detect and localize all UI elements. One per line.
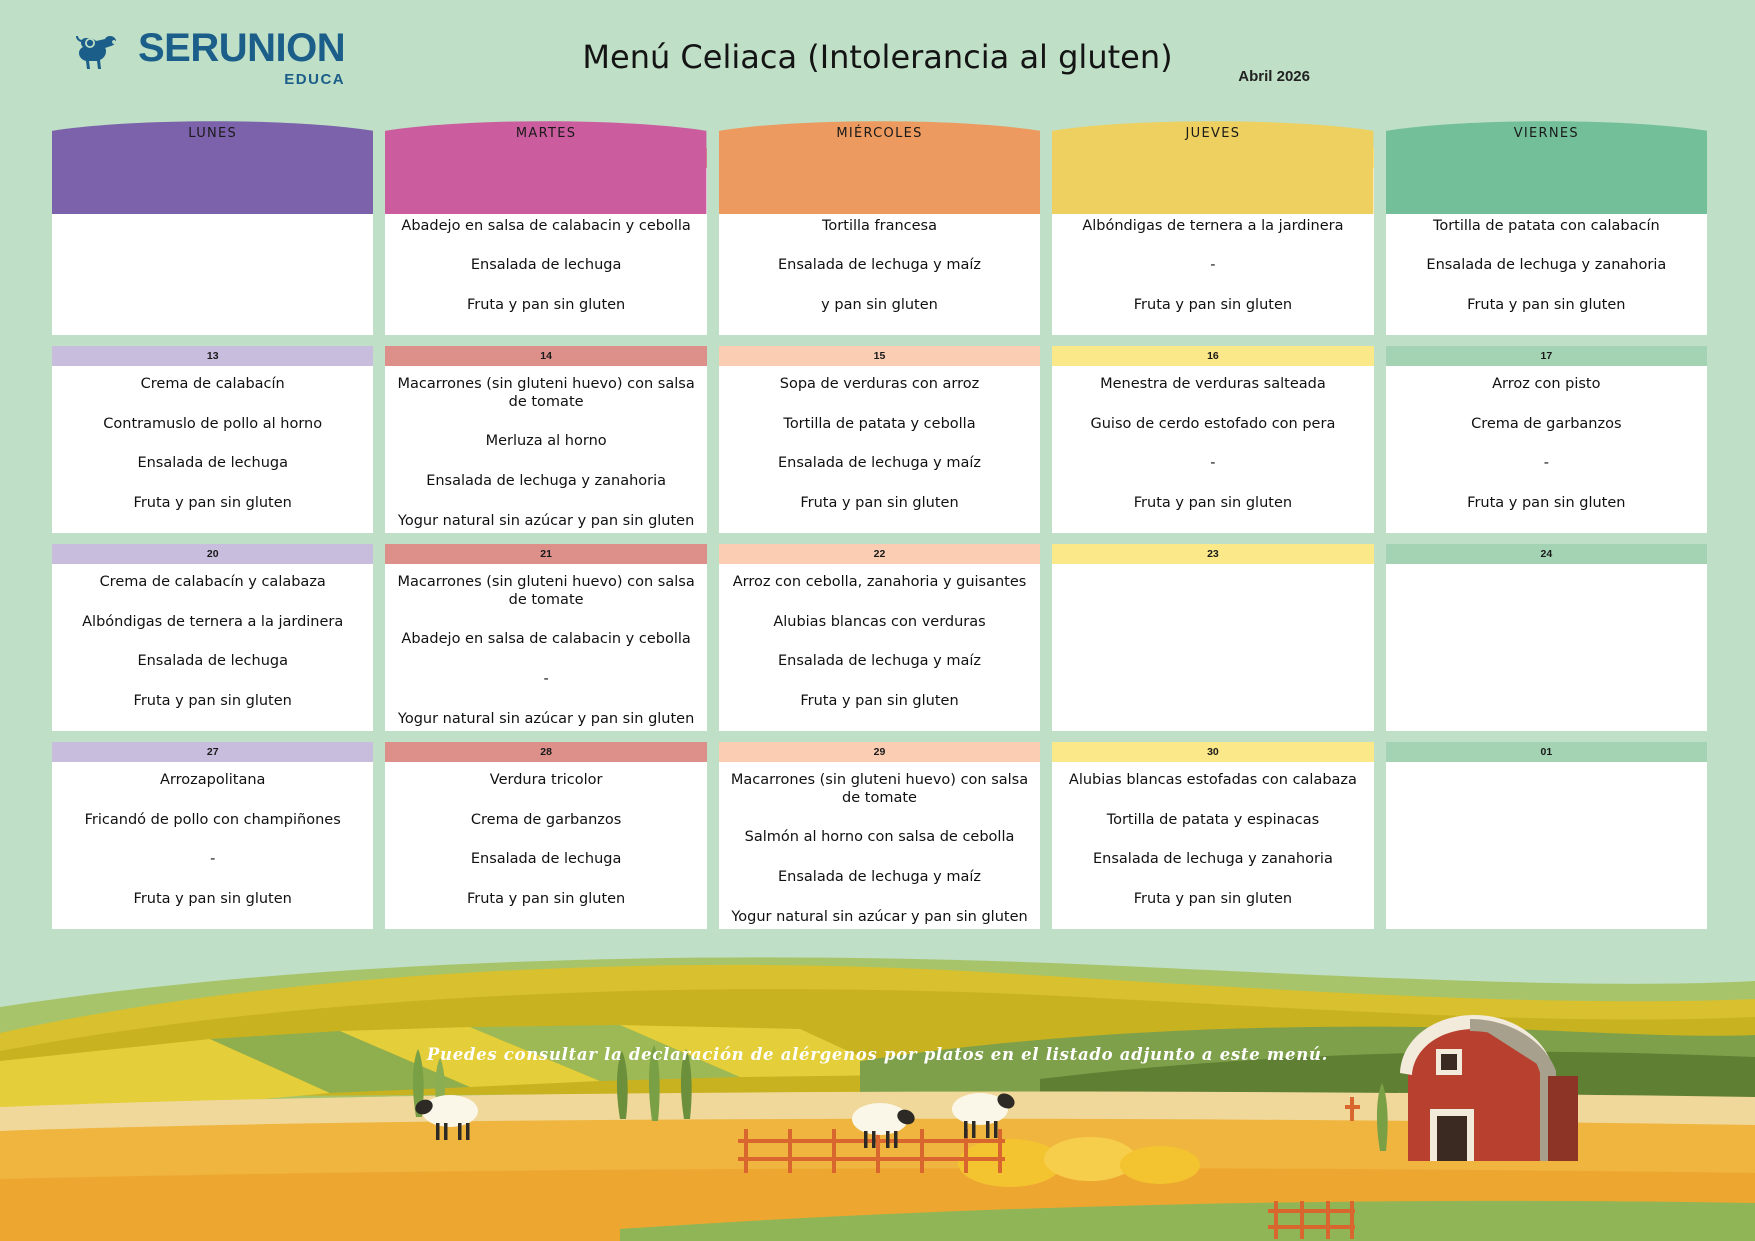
dish-line: Arrozapolitana — [60, 772, 365, 790]
date-bar: 22 — [719, 544, 1040, 564]
date-bar: 24 — [1386, 544, 1707, 564]
column-header-viernes: VIERNES — [1386, 118, 1707, 148]
column-header-lunes: LUNES — [52, 118, 373, 148]
menu-cell[interactable]: Crema de calabacínContramuslo de pollo a… — [52, 366, 373, 533]
menu-cell[interactable]: Arroz con pistoCrema de garbanzos-Fruta … — [1386, 366, 1707, 533]
dish-line: Salmón al horno con salsa de cebolla — [727, 829, 1032, 847]
dish-line: Crema de calabacín — [60, 376, 365, 394]
dish-line: Merluza al horno — [393, 433, 698, 451]
menu-cell[interactable]: Alubias blancas estofadas con calabazaTo… — [1052, 762, 1373, 929]
column-header-label: VIERNES — [1514, 126, 1579, 141]
dish-line: Yogur natural sin azúcar y pan sin glute… — [393, 513, 698, 531]
day-block[interactable]: 29Macarrones (sin gluteni huevo) con sal… — [719, 742, 1040, 929]
dish-line: Ensalada de lechuga y maíz — [727, 257, 1032, 275]
dish-line: Fricandó de pollo con champiñones — [60, 812, 365, 830]
dish-line: Fruta y pan sin gluten — [727, 495, 1032, 513]
dish-line: - — [60, 851, 365, 869]
day-block[interactable]: 14Macarrones (sin gluteni huevo) con sal… — [385, 346, 706, 533]
dish-line: Sopa de verduras con arroz — [727, 376, 1032, 394]
day-block[interactable]: 24 — [1386, 544, 1707, 731]
dish-line: - — [1060, 257, 1365, 275]
column-header-label: JUEVES — [1186, 126, 1241, 141]
date-bar: 29 — [719, 742, 1040, 762]
menu-cell[interactable]: Crema de calabacín y calabazaAlbóndigas … — [52, 564, 373, 731]
column-header-label: MARTES — [516, 126, 576, 141]
column-header-miércoles: MIÉRCOLES — [719, 118, 1040, 148]
dish-line: Fruta y pan sin gluten — [393, 297, 698, 315]
barn-door — [1437, 1116, 1467, 1161]
dish-line: Ensalada de lechuga y zanahoria — [393, 473, 698, 491]
dish-line: - — [393, 671, 698, 689]
dish-line: Fruta y pan sin gluten — [1060, 297, 1365, 315]
dish-line: y pan sin gluten — [727, 297, 1032, 315]
menu-poster: SERUNION EDUCA Menú Celiaca (Intoleranci… — [0, 0, 1755, 1241]
dish-line: Albóndigas de ternera a la jardinera — [1060, 218, 1365, 236]
menu-cell[interactable]: Macarrones (sin gluteni huevo) con salsa… — [385, 366, 706, 533]
menu-cell[interactable]: Arroz con cebolla, zanahoria y guisantes… — [719, 564, 1040, 731]
date-bar: 30 — [1052, 742, 1373, 762]
day-block[interactable]: 01 — [1386, 742, 1707, 929]
dish-line: Fruta y pan sin gluten — [60, 693, 365, 711]
dish-line: Fruta y pan sin gluten — [1394, 297, 1699, 315]
date-bar: 23 — [1052, 544, 1373, 564]
menu-calendar: LUNES06 13Crema de calabacínContramuslo … — [52, 118, 1707, 929]
dish-line: Tortilla de patata con calabacín — [1394, 218, 1699, 236]
dish-line: Arroz con pisto — [1394, 376, 1699, 394]
dish-line: Alubias blancas estofadas con calabaza — [1060, 772, 1365, 790]
dish-line: Albóndigas de ternera a la jardinera — [60, 614, 365, 632]
day-column-miércoles: MIÉRCOLES08Alubias blancas con verdurasT… — [719, 118, 1040, 929]
page-title: Menú Celiaca (Intolerancia al gluten) — [0, 38, 1755, 76]
dish-line: - — [1394, 455, 1699, 473]
dish-line: Crema de calabacín y calabaza — [60, 574, 365, 592]
dish-line: Ensalada de lechuga y zanahoria — [1060, 851, 1365, 869]
dish-line: Crema de garbanzos — [1394, 416, 1699, 434]
column-header-jueves: JUEVES — [1052, 118, 1373, 148]
menu-cell[interactable]: Macarrones (sin gluteni huevo) con salsa… — [385, 564, 706, 731]
dish-line: Tortilla de patata y cebolla — [727, 416, 1032, 434]
dish-line: Fruta y pan sin gluten — [60, 891, 365, 909]
menu-cell[interactable]: Sopa de verduras con arrozTortilla de pa… — [719, 366, 1040, 533]
dish-line: Ensalada de lechuga — [60, 653, 365, 671]
dish-line: Crema de garbanzos — [393, 812, 698, 830]
day-block[interactable]: 28Verdura tricolorCrema de garbanzosEnsa… — [385, 742, 706, 929]
day-column-lunes: LUNES06 13Crema de calabacínContramuslo … — [52, 118, 373, 929]
date-bar: 28 — [385, 742, 706, 762]
month-label: Abril 2026 — [1238, 68, 1310, 85]
date-bar: 15 — [719, 346, 1040, 366]
dish-line: Fruta y pan sin gluten — [1060, 495, 1365, 513]
menu-cell[interactable]: Macarrones (sin gluteni huevo) con salsa… — [719, 762, 1040, 929]
column-header-label: MIÉRCOLES — [836, 126, 922, 141]
dish-line: Tortilla de patata y espinacas — [1060, 812, 1365, 830]
column-header-martes: MARTES — [385, 118, 706, 148]
dish-line: Abadejo en salsa de calabacin y cebolla — [393, 631, 698, 649]
date-bar: 16 — [1052, 346, 1373, 366]
dish-line: Fruta y pan sin gluten — [727, 693, 1032, 711]
day-block[interactable]: 16Menestra de verduras salteadaGuiso de … — [1052, 346, 1373, 533]
day-block[interactable]: 27ArrozapolitanaFricandó de pollo con ch… — [52, 742, 373, 929]
date-bar: 14 — [385, 346, 706, 366]
menu-cell[interactable]: Verdura tricolorCrema de garbanzosEnsala… — [385, 762, 706, 929]
day-block[interactable]: 17Arroz con pistoCrema de garbanzos-Frut… — [1386, 346, 1707, 533]
day-column-viernes: VIERNES10Sopa de verduras con arrozTorti… — [1386, 118, 1707, 929]
date-bar: 21 — [385, 544, 706, 564]
menu-cell[interactable] — [1386, 762, 1707, 929]
dish-line: Verdura tricolor — [393, 772, 698, 790]
dish-line: Arroz con cebolla, zanahoria y guisantes — [727, 574, 1032, 592]
dish-line: Yogur natural sin azúcar y pan sin glute… — [393, 711, 698, 729]
dish-line: Macarrones (sin gluteni huevo) con salsa… — [393, 376, 698, 411]
menu-cell[interactable] — [1052, 564, 1373, 731]
day-block[interactable]: 20Crema de calabacín y calabazaAlbóndiga… — [52, 544, 373, 731]
dish-line: Ensalada de lechuga y zanahoria — [1394, 257, 1699, 275]
date-bar: 13 — [52, 346, 373, 366]
day-column-martes: MARTES07Arroz a la hortelana / arroz con… — [385, 118, 706, 929]
dish-line: Ensalada de lechuga y maíz — [727, 869, 1032, 887]
date-bar: 17 — [1386, 346, 1707, 366]
dish-line: Ensalada de lechuga y maíz — [727, 653, 1032, 671]
dish-line: - — [1060, 455, 1365, 473]
date-bar: 27 — [52, 742, 373, 762]
dish-line: Ensalada de lechuga — [393, 257, 698, 275]
dish-line: Ensalada de lechuga — [60, 455, 365, 473]
dish-line: Fruta y pan sin gluten — [60, 495, 365, 513]
day-block[interactable]: 13Crema de calabacínContramuslo de pollo… — [52, 346, 373, 533]
dish-line: Ensalada de lechuga y maíz — [727, 455, 1032, 473]
dish-line: Abadejo en salsa de calabacin y cebolla — [393, 218, 698, 236]
day-block[interactable]: 22Arroz con cebolla, zanahoria y guisant… — [719, 544, 1040, 731]
dish-line: Fruta y pan sin gluten — [393, 891, 698, 909]
day-block[interactable]: 21Macarrones (sin gluteni huevo) con sal… — [385, 544, 706, 731]
dish-line: Contramuslo de pollo al horno — [60, 416, 365, 434]
dish-line: Guiso de cerdo estofado con pera — [1060, 416, 1365, 434]
farm-illustration — [0, 911, 1755, 1241]
dish-line: Menestra de verduras salteada — [1060, 376, 1365, 394]
dish-line: Macarrones (sin gluteni huevo) con salsa… — [393, 574, 698, 609]
haystack-3 — [1120, 1146, 1200, 1184]
date-bar: 20 — [52, 544, 373, 564]
menu-cell[interactable]: ArrozapolitanaFricandó de pollo con cham… — [52, 762, 373, 929]
dish-line: Fruta y pan sin gluten — [1394, 495, 1699, 513]
menu-cell[interactable] — [1386, 564, 1707, 731]
day-column-jueves: JUEVES09Judías verdes con patatas ecoAlb… — [1052, 118, 1373, 929]
poster-header: SERUNION EDUCA Menú Celiaca (Intoleranci… — [0, 0, 1755, 118]
column-header-label: LUNES — [188, 126, 237, 141]
dish-line: Macarrones (sin gluteni huevo) con salsa… — [727, 772, 1032, 807]
menu-cell[interactable]: Menestra de verduras salteadaGuiso de ce… — [1052, 366, 1373, 533]
allergen-note: Puedes consultar la declaración de alérg… — [0, 1045, 1755, 1064]
day-block[interactable]: 23 — [1052, 544, 1373, 731]
dish-line: Tortilla francesa — [727, 218, 1032, 236]
day-block[interactable]: 30Alubias blancas estofadas con calabaza… — [1052, 742, 1373, 929]
day-block[interactable]: 15Sopa de verduras con arrozTortilla de … — [719, 346, 1040, 533]
dish-line: Ensalada de lechuga — [393, 851, 698, 869]
dish-line: Alubias blancas con verduras — [727, 614, 1032, 632]
dish-line: Fruta y pan sin gluten — [1060, 891, 1365, 909]
date-bar: 01 — [1386, 742, 1707, 762]
